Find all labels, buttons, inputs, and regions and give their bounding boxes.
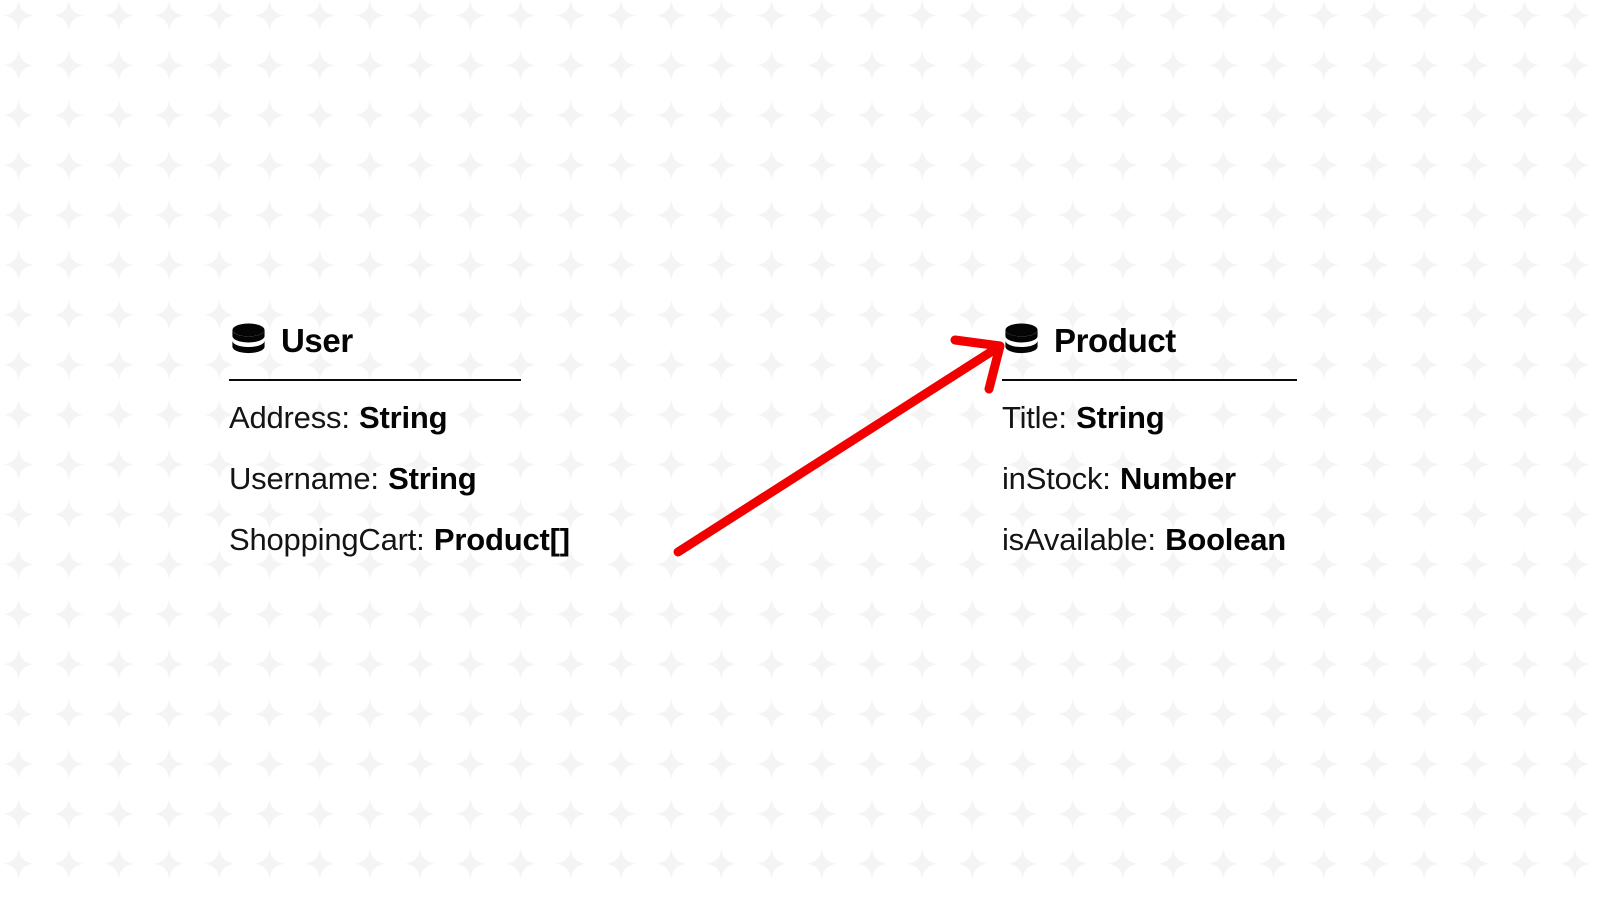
diagram-canvas: User Address: String Username: String Sh…	[0, 0, 1600, 899]
entity-product-divider	[1002, 379, 1297, 381]
attribute-row[interactable]: Address: String	[229, 387, 659, 448]
attribute-type: String	[388, 463, 476, 494]
attribute-row[interactable]: Title: String	[1002, 387, 1422, 448]
entity-user-divider	[229, 379, 521, 381]
entity-user-title: User	[281, 324, 353, 357]
entity-product[interactable]: Product Title: String inStock: Number is…	[1002, 312, 1422, 570]
entity-user-attribute-list: Address: String Username: String Shoppin…	[229, 387, 659, 570]
attribute-row[interactable]: ShoppingCart: Product[]	[229, 509, 659, 570]
entity-product-title: Product	[1054, 324, 1176, 357]
attribute-name: ShoppingCart:	[229, 524, 425, 555]
database-icon	[229, 321, 268, 360]
entity-product-attribute-list: Title: String inStock: Number isAvailabl…	[1002, 387, 1422, 570]
attribute-type: Number	[1120, 463, 1236, 494]
attribute-name: Address:	[229, 402, 350, 433]
entity-user-header: User	[229, 312, 659, 368]
attribute-type: String	[1076, 402, 1164, 433]
attribute-name: Title:	[1002, 402, 1067, 433]
attribute-type: Boolean	[1165, 524, 1286, 555]
database-icon	[1002, 321, 1041, 360]
attribute-row[interactable]: Username: String	[229, 448, 659, 509]
attribute-row[interactable]: inStock: Number	[1002, 448, 1422, 509]
attribute-type: String	[359, 402, 447, 433]
attribute-name: inStock:	[1002, 463, 1111, 494]
attribute-name: isAvailable:	[1002, 524, 1156, 555]
attribute-type: Product[]	[434, 524, 570, 555]
attribute-name: Username:	[229, 463, 379, 494]
attribute-row[interactable]: isAvailable: Boolean	[1002, 509, 1422, 570]
entity-product-header: Product	[1002, 312, 1422, 368]
entity-user[interactable]: User Address: String Username: String Sh…	[229, 312, 659, 570]
